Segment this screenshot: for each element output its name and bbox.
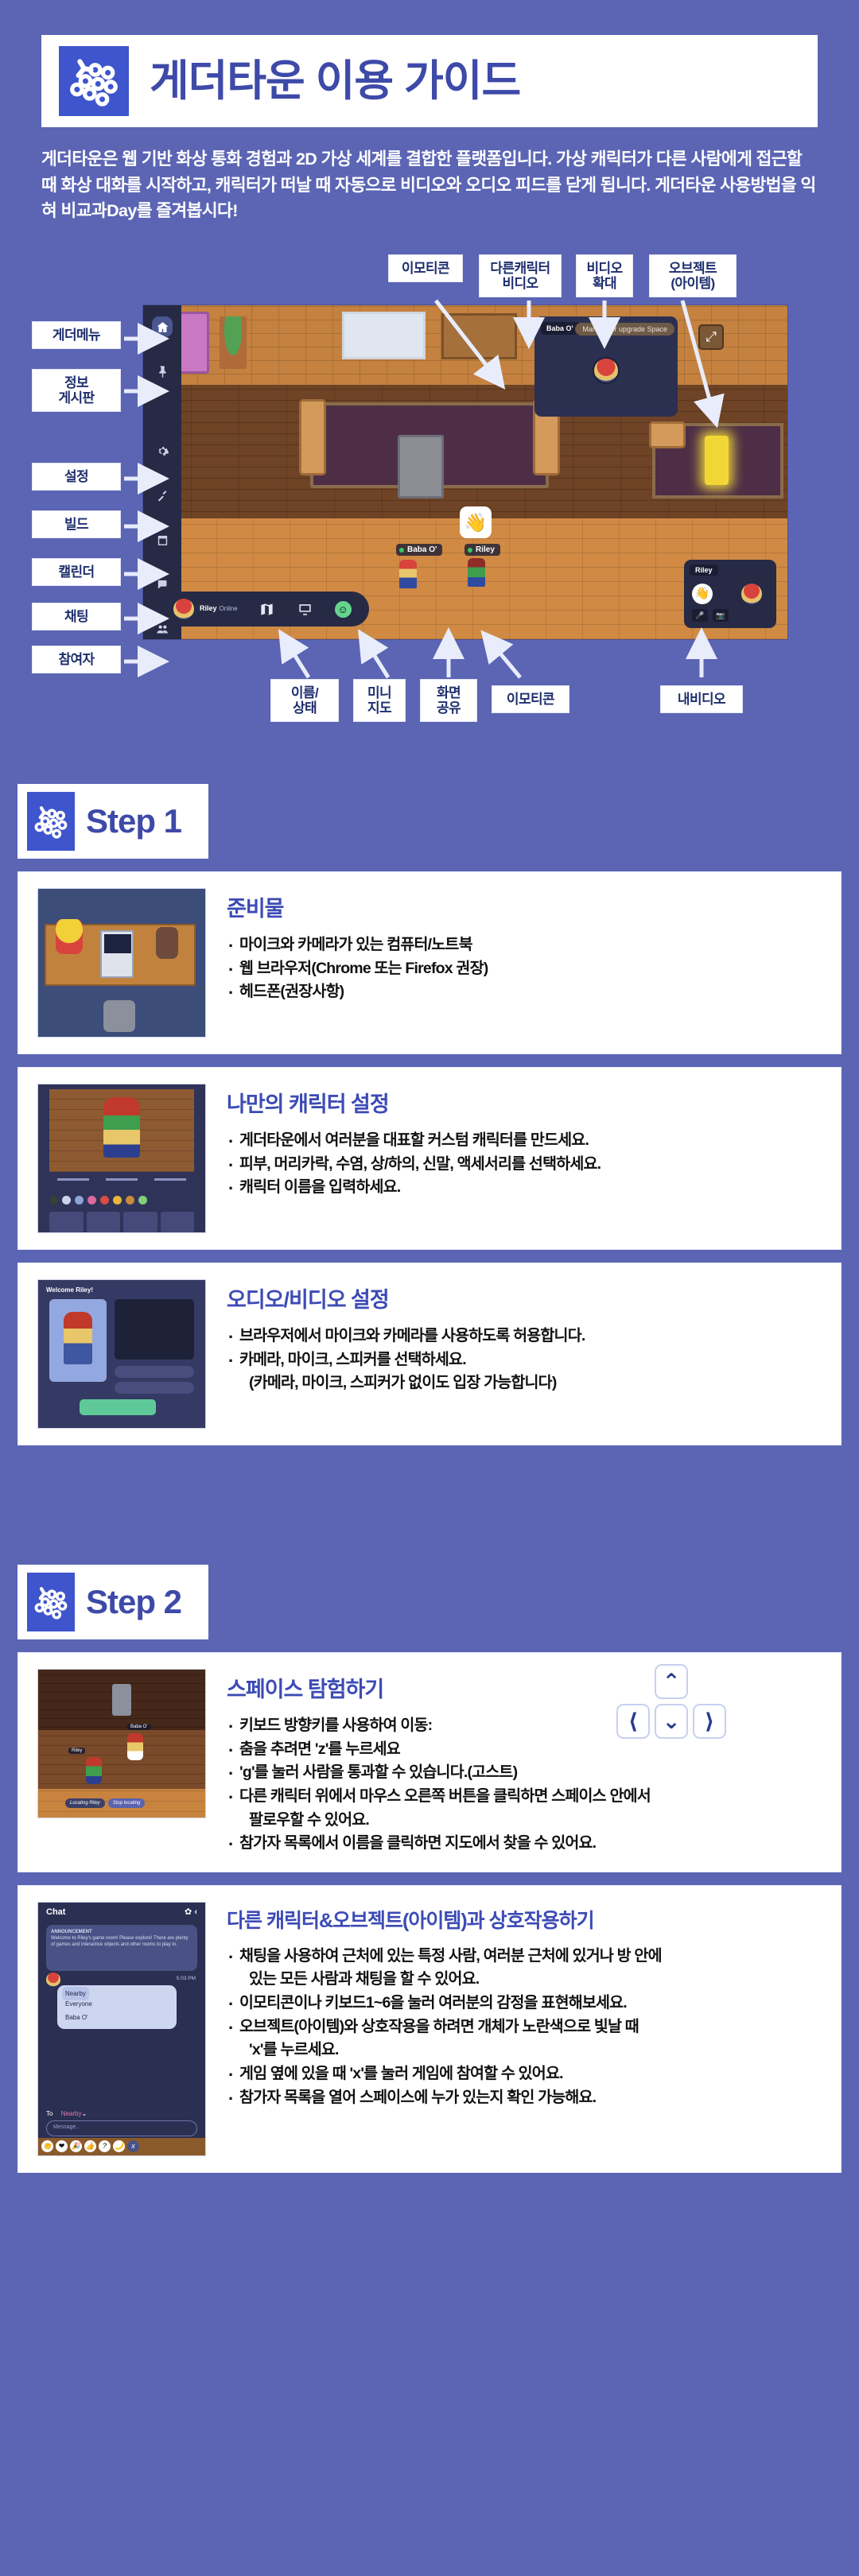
list-item: 참가자 목록에서 이름을 클릭하면 지도에서 찾을 수 있어요. [227, 1832, 822, 1856]
to-value[interactable]: Nearby [61, 2110, 82, 2117]
list-item: 게더타운에서 여러분을 대표할 커스텀 캐릭터를 만드세요. [227, 1129, 822, 1153]
step-badge-1: Step 1 [17, 784, 208, 859]
title-bar: 게더타운 이용 가이드 [41, 35, 818, 127]
arrow-up-key[interactable]: ⌃ [655, 1664, 688, 1699]
chevron-down-icon[interactable]: ⌄ [81, 2110, 87, 2117]
chat-panel-title: Chat [46, 1907, 65, 1917]
list-item: 참가자 목록을 열어 스페이스에 누가 있는지 확인 가능해요. [227, 2086, 822, 2110]
intro-paragraph: 게더타운은 웹 기반 화상 통화 경험과 2D 가상 세계를 결합한 플랫폼입니… [0, 127, 859, 224]
character-sprite-self [468, 558, 485, 587]
nametag-other: Baba O' [396, 544, 442, 556]
card-title: 나만의 캐릭터 설정 [227, 1087, 822, 1118]
step-label: Step 1 [86, 802, 181, 840]
tv-object [398, 435, 444, 499]
gather-logo-icon [27, 1573, 75, 1631]
calendar-icon[interactable] [152, 530, 173, 550]
nametag-self: Riley [464, 544, 500, 556]
list-item: 춤을 추려면 'z'를 누르세요 [227, 1738, 822, 1762]
bullet-list: 키보드 방향키를 사용하여 이동: 춤을 추려면 'z'를 누르세요 'g'를 … [227, 1714, 822, 1856]
video-nametag-self: Riley [690, 564, 718, 576]
character-sprite-other [399, 560, 417, 588]
list-item: 다른 캐릭터 위에서 마우스 오른쪽 버튼을 클릭하면 스페이스 안에서 [227, 1785, 822, 1809]
bullet-list: 채팅을 사용하여 근처에 있는 특정 사람, 여러분 근처에 있거나 방 안에 … [227, 1945, 822, 2109]
emoji-bubble: 👋 [460, 506, 492, 538]
chat-panel-thumb: Chat ✿ ‹ ANNOUNCEMENT Welcome to Riley's… [37, 1902, 206, 2156]
gear-icon[interactable]: ✿ [185, 1907, 192, 1917]
gear-icon[interactable] [152, 440, 173, 461]
card-preparation: 준비물 마이크와 카메라가 있는 컴퓨터/노트북 웹 브라우저(Chrome 또… [17, 871, 842, 1054]
callout-calendar: 캘린더 [32, 558, 121, 586]
callout-video-expand: 비디오확대 [576, 254, 633, 297]
callout-my-video: 내비디오 [660, 685, 743, 713]
screen-share-icon[interactable] [297, 600, 314, 618]
callout-info-board: 정보게시판 [32, 369, 121, 412]
emoji-key-2[interactable]: ❤ [56, 2140, 68, 2152]
emoji-key-1[interactable]: 👏 [41, 2140, 53, 2152]
avatar [593, 357, 620, 384]
list-item: 브라우저에서 마이크와 카메라를 사용하도록 허용합니다. [227, 1325, 822, 1348]
callout-emoticon: 이모티콘 [388, 254, 463, 282]
callout-name-status: 이름/상태 [270, 679, 339, 722]
recipient-dropdown[interactable]: Nearby Everyone Baba O' [57, 1985, 177, 2029]
emoji-key-5[interactable]: ? [99, 2140, 111, 2152]
bullet-list: 마이크와 카메라가 있는 컴퓨터/노트북 웹 브라우저(Chrome 또는 Fi… [227, 933, 822, 1004]
user-status: Online [220, 605, 238, 613]
my-video-tile[interactable]: Riley 👋 🎤 📷 [684, 560, 776, 628]
bullet-list: 브라우저에서 마이크와 카메라를 사용하도록 허용합니다. 카메라, 마이크, … [227, 1325, 822, 1395]
list-item: 웹 브라우저(Chrome 또는 Firefox 권장) [227, 957, 822, 981]
message-input[interactable]: Message.. [46, 2120, 197, 2136]
emoji-key-6[interactable]: 🌙 [113, 2140, 125, 2152]
list-item: 피부, 머리카락, 수염, 상/하의, 신말, 액세서리를 선택하세요. [227, 1153, 822, 1177]
avatar [46, 1973, 60, 1987]
callout-gather-menu: 게더메뉴 [32, 321, 121, 349]
list-item: 있는 모든 사람과 채팅을 할 수 있어요. [227, 1968, 822, 1992]
collapse-icon[interactable]: ‹ [194, 1907, 197, 1917]
tooltip: Manage or upgrade Space [575, 323, 674, 336]
mic-muted-icon[interactable]: 🎤 [692, 609, 708, 622]
interactive-glowing-object[interactable] [705, 436, 729, 485]
list-item: 이모티콘이나 키보드1~6을 눌러 여러분의 감정을 표현해보세요. [227, 1992, 822, 2015]
callout-emoticon-bar: 이모티콘 [492, 685, 569, 713]
gather-logo-icon [59, 46, 129, 116]
page-title: 게더타운 이용 가이드 [150, 59, 520, 104]
gather-bottom-bar[interactable]: Riley Online ☺ [165, 592, 369, 627]
list-item: 채팅을 사용하여 근처에 있는 특정 사람, 여러분 근처에 있거나 방 안에 [227, 1945, 822, 1969]
card-explore-space: Baba O' Riley Locating Riley Stop locati… [17, 1652, 842, 1872]
callout-settings: 설정 [32, 463, 121, 491]
home-icon[interactable] [152, 316, 173, 337]
callout-other-character-video: 다른캐릭터비디오 [479, 254, 562, 297]
emoji-key-4[interactable]: 👍 [84, 2140, 96, 2152]
couch-far [649, 421, 686, 448]
expand-icon[interactable]: ⤢ [698, 324, 724, 350]
list-item: 팔로우할 수 있어요. [227, 1809, 822, 1833]
card-interaction: Chat ✿ ‹ ANNOUNCEMENT Welcome to Riley's… [17, 1885, 842, 2173]
whiteboard-object [342, 312, 426, 359]
emoji-bubble-self: 👋 [692, 584, 713, 604]
emoji-key-3[interactable]: 🎉 [70, 2140, 82, 2152]
list-item: (카메라, 마이크, 스피커가 없이도 입장 가능합니다) [227, 1371, 822, 1395]
emoji-shortcut-bar[interactable]: 👏 ❤ 🎉 👍 ? 🌙 x [38, 2138, 205, 2155]
avatar [173, 599, 194, 619]
dropdown-option-baba[interactable]: Baba O' [62, 2011, 172, 2024]
av-setup-thumb: Welcome Riley! [37, 1279, 206, 1429]
list-item: 마이크와 카메라가 있는 컴퓨터/노트북 [227, 933, 822, 957]
header: 게더타운 이용 가이드 [0, 0, 859, 127]
callout-screen-share: 화면공유 [420, 679, 477, 722]
locating-button[interactable]: Locating Riley [65, 1798, 105, 1808]
corkboard-object [441, 313, 517, 359]
chat-icon[interactable] [152, 574, 173, 595]
bullet-list: 게더타운에서 여러분을 대표할 커스텀 캐릭터를 만드세요. 피부, 머리카락,… [227, 1129, 822, 1200]
list-item: 카메라, 마이크, 스피커를 선택하세요. [227, 1348, 822, 1372]
list-item: 'g'를 눌러 사람을 통과할 수 있습니다.(고스트) [227, 1761, 822, 1785]
hammer-icon[interactable] [152, 485, 173, 506]
card-title: 오디오/비디오 설정 [227, 1282, 822, 1313]
emoji-face-icon[interactable]: ☺ [335, 601, 352, 618]
stop-locating-button[interactable]: Stop locating [108, 1798, 146, 1808]
video-nametag: Baba O' [541, 322, 579, 335]
camera-off-icon[interactable]: 📷 [713, 609, 729, 622]
list-item: 캐릭터 이름을 입력하세요. [227, 1176, 822, 1200]
list-item: 게임 옆에 있을 때 'x'를 눌러 게임에 참여할 수 있어요. [227, 2062, 822, 2086]
desk-computer-thumb [37, 888, 206, 1038]
list-item: 오브젝트(아이템)와 상호작용을 하려면 개체가 노란색으로 빛날 때 [227, 2015, 822, 2039]
gather-app-screenshot: Baba O' ⤢ 👋 Baba O' Riley Manage or upgr… [143, 305, 787, 639]
callout-participants: 참여자 [32, 646, 121, 673]
callout-minimap: 미니지도 [353, 679, 406, 722]
gather-left-rail[interactable] [143, 305, 181, 639]
character-editor-thumb [37, 1084, 206, 1233]
callout-object-item: 오브젝트(아이템) [649, 254, 737, 297]
list-item: 'x'를 누르세요. [227, 2039, 822, 2062]
emoji-clear-key[interactable]: x [127, 2140, 139, 2152]
gather-logo-icon [27, 792, 75, 851]
list-item: 헤드폰(권장사항) [227, 980, 822, 1004]
minimap-icon[interactable] [258, 600, 276, 618]
card-character-setup: 나만의 캐릭터 설정 게더타운에서 여러분을 대표할 커스텀 캐릭터를 만드세요… [17, 1067, 842, 1250]
pin-icon[interactable] [152, 361, 173, 382]
card-title: 다른 캐릭터&오브젝트(아이템)과 상호작용하기 [227, 1905, 822, 1934]
people-icon[interactable] [152, 619, 173, 639]
card-title: 준비물 [227, 891, 822, 922]
dropdown-option-nearby[interactable]: Nearby [62, 1987, 89, 2000]
space-explore-thumb: Baba O' Riley Locating Riley Stop locati… [37, 1669, 206, 1818]
annotated-screenshot-diagram: Baba O' ⤢ 👋 Baba O' Riley Manage or upgr… [32, 248, 827, 717]
step-label: Step 2 [86, 1583, 181, 1621]
couch-left [299, 399, 326, 475]
avatar [741, 584, 762, 604]
callout-chat: 채팅 [32, 603, 121, 630]
card-av-setup: Welcome Riley! 오디오/비디오 설정 브라우저에서 마이크와 카메… [17, 1263, 842, 1445]
user-name: Riley [200, 604, 217, 613]
list-item: 키보드 방향키를 사용하여 이동: [227, 1714, 822, 1738]
to-label: To [46, 2110, 52, 2117]
announcement-text: Welcome to Riley's game room! Please exp… [51, 1936, 189, 1947]
announcement-label: ANNOUNCEMENT [51, 1930, 92, 1934]
user-status-chip[interactable]: Riley Online [173, 599, 238, 619]
timestamp: 5:03 PM [177, 1976, 196, 1981]
step-badge-2: Step 2 [17, 1565, 208, 1639]
plant-object [220, 316, 247, 369]
nametag: Riley [68, 1748, 85, 1754]
callout-build: 빌드 [32, 510, 121, 538]
card-title: 스페이스 탐험하기 [227, 1672, 822, 1703]
nametag: Baba O' [127, 1724, 151, 1730]
